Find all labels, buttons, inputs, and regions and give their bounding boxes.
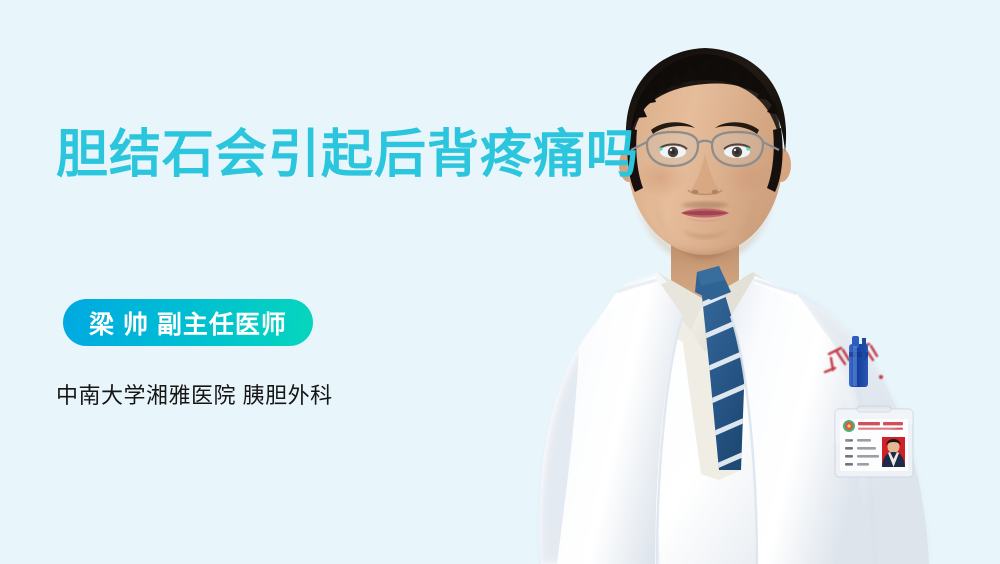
page-title: 胆结石会引起后背疼痛吗 bbox=[56, 112, 656, 198]
id-badge bbox=[835, 406, 913, 477]
promo-banner: 胆结石会引起后背疼痛吗 梁 帅 副主任医师 中南大学湘雅医院 胰胆外科 bbox=[0, 0, 1000, 564]
doctor-affiliation: 中南大学湘雅医院 胰胆外科 bbox=[56, 378, 333, 410]
doctor-portrait-photo bbox=[505, 0, 1000, 564]
doctor-name-title-label: 梁 帅 副主任医师 bbox=[89, 305, 287, 341]
id-badge-photo bbox=[882, 437, 905, 467]
doctor-name-badge: 梁 帅 副主任医师 bbox=[63, 299, 313, 346]
